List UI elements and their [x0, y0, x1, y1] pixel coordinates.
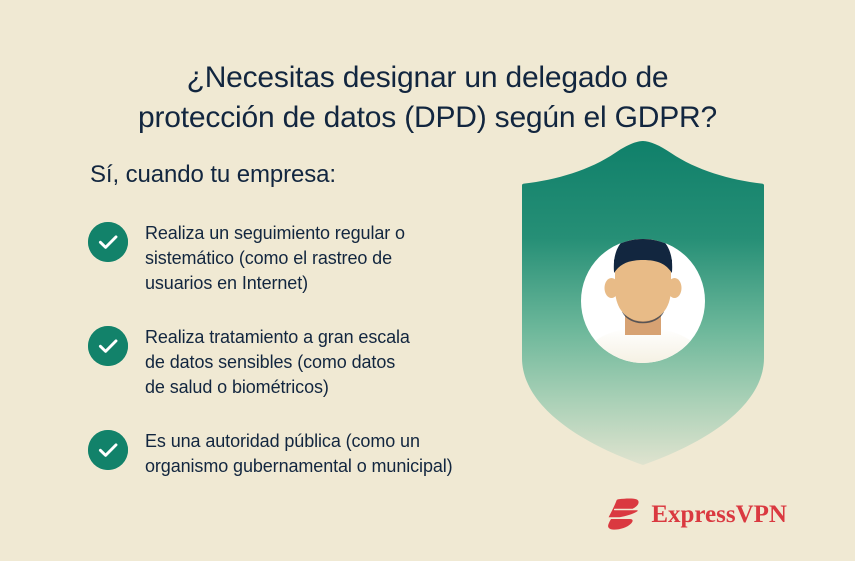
content-column: Sí, cuando tu empresa: Realiza un seguim…: [88, 160, 528, 479]
subtitle: Sí, cuando tu empresa:: [90, 160, 528, 190]
expressvpn-logo: ExpressVPN: [606, 497, 787, 531]
list-item-line-2: sistemático (como el rastreo de: [145, 246, 405, 271]
list-item: Realiza tratamiento a gran escala de dat…: [88, 324, 528, 400]
check-circle-icon: [88, 222, 128, 262]
check-circle-icon: [88, 326, 128, 366]
page-title-line-1: ¿Necesitas designar un delegado de: [60, 58, 795, 98]
list-item-text: Realiza tratamiento a gran escala de dat…: [145, 324, 410, 400]
bullet-list: Realiza un seguimiento regular o sistemá…: [88, 220, 528, 479]
list-item-line-2: de datos sensibles (como datos: [145, 350, 410, 375]
list-item-line-3: usuarios en Internet): [145, 271, 405, 296]
shield-illustration: [498, 140, 798, 470]
list-item-text: Es una autoridad pública (como un organi…: [145, 428, 453, 479]
list-item-line-3: de salud o biométricos): [145, 375, 410, 400]
list-item: Es una autoridad pública (como un organi…: [88, 428, 528, 479]
expressvpn-mark-icon: [606, 497, 642, 531]
list-item-line-2: organismo gubernamental o municipal): [145, 454, 453, 479]
check-circle-icon: [88, 430, 128, 470]
page-title: ¿Necesitas designar un delegado de prote…: [0, 58, 855, 138]
page-title-line-2: protección de datos (DPD) según el GDPR?: [60, 98, 795, 138]
list-item-line-1: Realiza un seguimiento regular o: [145, 221, 405, 246]
infographic-canvas: ¿Necesitas designar un delegado de prote…: [0, 0, 855, 561]
expressvpn-wordmark: ExpressVPN: [651, 502, 787, 527]
list-item-line-1: Realiza tratamiento a gran escala: [145, 325, 410, 350]
list-item: Realiza un seguimiento regular o sistemá…: [88, 220, 528, 296]
list-item-text: Realiza un seguimiento regular o sistemá…: [145, 220, 405, 296]
list-item-line-1: Es una autoridad pública (como un: [145, 429, 453, 454]
